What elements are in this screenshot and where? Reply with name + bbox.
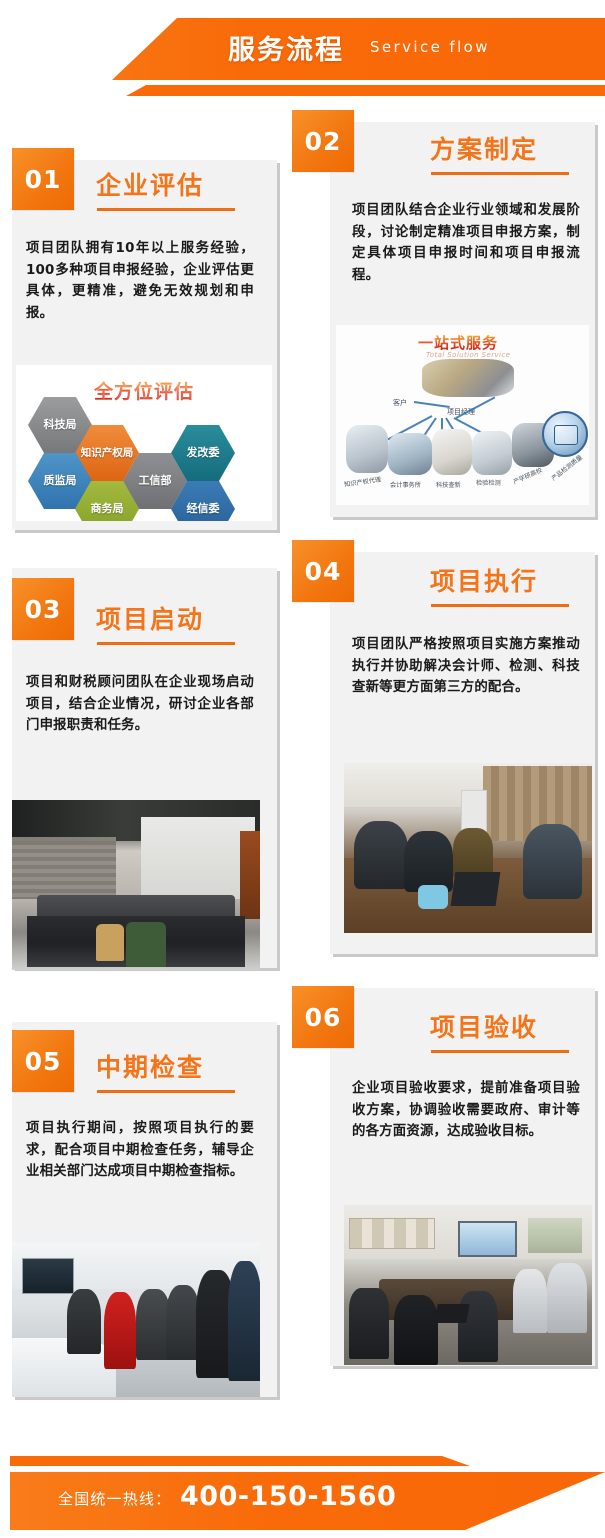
hex-node-label: 商务局 xyxy=(91,503,124,516)
service-label: 科技查新 xyxy=(436,480,461,489)
service-tile-inspection xyxy=(472,431,512,475)
conference-room-kickoff-photo xyxy=(12,800,260,970)
step-title-underline-02 xyxy=(431,172,569,175)
hex-node-label: 质监局 xyxy=(44,475,77,488)
one-stop-service-diagram: 一站式服务 Total Solution Service 客户 项目经理 知识产… xyxy=(336,325,589,505)
step-number-badge-05: 05 xyxy=(12,1030,74,1092)
service-label: 会计事务所 xyxy=(390,480,421,489)
one-stop-service-subtitle: Total Solution Service xyxy=(426,351,510,359)
hotline-number[interactable]: 400-150-1560 xyxy=(180,1481,396,1512)
page-footer: 全国统一热线： 400-150-1560 xyxy=(0,1418,605,1538)
step-title-underline-06 xyxy=(431,1050,569,1053)
step-title-05: 中期检查 xyxy=(96,1048,204,1084)
header-accent-stripe xyxy=(0,85,605,96)
step-body-01: 项目团队拥有10年以上服务经验，100多种项目申报经验，企业评估更具体，更精准，… xyxy=(26,238,254,325)
meeting-photo-blob xyxy=(422,359,514,397)
step-title-underline-03 xyxy=(97,642,235,645)
hex-node-label: 发改委 xyxy=(187,447,220,460)
hex-node-label: 知识产权局 xyxy=(81,447,134,459)
showroom-group-visit-photo xyxy=(12,1242,260,1397)
step-body-05: 项目执行期间，按照项目执行的要求，配合项目中期检查任务，辅导企业相关部门达成项目… xyxy=(26,1118,254,1183)
service-flow-infographic: 服务流程 Service flow 01 企业评估 项目团队拥有10年以上服务经… xyxy=(0,0,605,1538)
step-title-01: 企业评估 xyxy=(96,166,204,202)
step-body-06: 企业项目验收要求，提前准备项目验收方案，协调验收需要政府、审计等的各方面资源，达… xyxy=(352,1078,580,1143)
service-tile-tech-search xyxy=(432,429,472,475)
large-meeting-room-photo xyxy=(344,1205,592,1365)
step-body-03: 项目和财税顾问团队在企业现场启动项目，结合企业情况，研讨企业各部门申报职责和任务… xyxy=(26,672,254,737)
step-title-06: 项目验收 xyxy=(430,1008,538,1044)
page-header: 服务流程 Service flow xyxy=(0,0,605,118)
flow-arrow xyxy=(414,401,450,408)
step-body-02: 项目团队结合企业行业领域和发展阶段，讨论制定精准项目申报方案，制定具体项目申报时… xyxy=(352,200,580,287)
step-number-badge-04: 04 xyxy=(292,540,354,602)
hexagon-chart-title: 全方位评估 xyxy=(94,377,194,404)
hex-node-label: 工信部 xyxy=(139,475,172,488)
one-stop-service-title: 一站式服务 xyxy=(418,332,498,353)
service-label: 产品检测质量 xyxy=(549,453,584,483)
service-tile-accounting xyxy=(388,433,432,475)
step-number-badge-02: 02 xyxy=(292,110,354,172)
hotline-label: 全国统一热线： xyxy=(58,1488,171,1509)
service-label: 知识产权代理 xyxy=(344,474,382,488)
step-number-badge-06: 06 xyxy=(292,986,354,1048)
step-title-underline-05 xyxy=(97,1090,235,1093)
team-working-laptops-photo xyxy=(344,763,592,933)
hex-node-label: 科技局 xyxy=(44,419,77,432)
page-title: 服务流程 xyxy=(228,28,344,67)
step-number-badge-01: 01 xyxy=(12,148,74,210)
step-title-underline-04 xyxy=(431,604,569,607)
step-title-03: 项目启动 xyxy=(96,600,204,636)
service-label: 检验检测 xyxy=(476,478,501,487)
page-title-english: Service flow xyxy=(370,38,490,56)
step-title-04: 项目执行 xyxy=(430,562,538,598)
footer-accent-stripe xyxy=(10,1456,605,1466)
service-label: 产学研高校 xyxy=(512,465,544,486)
hex-node-label: 经信委 xyxy=(187,503,220,516)
step-number-badge-03: 03 xyxy=(12,578,74,640)
quality-seal-icon xyxy=(542,411,588,457)
step-title-02: 方案制定 xyxy=(430,130,538,166)
step-title-underline-01 xyxy=(97,208,235,211)
service-tile-ip-agency xyxy=(346,425,388,473)
label-customer: 客户 xyxy=(393,398,407,408)
step-body-04: 项目团队严格按照项目实施方案推动执行并协助解决会计师、检测、科技查新等更方面第三… xyxy=(352,634,580,699)
hexagon-assessment-chart: 全方位评估 科技局 知识产权局 质监局 商务局 工信部 发改委 经信委 xyxy=(16,365,272,521)
